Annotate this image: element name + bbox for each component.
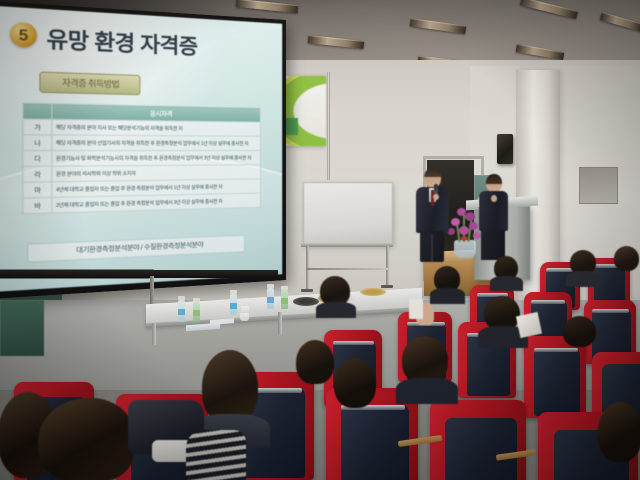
head-table-leg <box>152 323 156 345</box>
audience-member <box>413 299 439 333</box>
audience-hair <box>484 296 520 330</box>
slide-row-key: 바 <box>23 197 52 213</box>
bottle-label <box>267 297 274 303</box>
vase <box>454 240 476 258</box>
banner-pole <box>327 72 330 180</box>
whiteboard-tray <box>301 243 393 247</box>
auditorium-seat[interactable] <box>430 400 526 480</box>
foreground-chair-edge <box>0 300 44 356</box>
head-table-leg <box>278 312 282 334</box>
audience-member <box>398 336 454 402</box>
audience-member <box>492 256 520 290</box>
audience-shoulder <box>566 271 601 287</box>
water-bottle <box>281 290 288 309</box>
bottle-label <box>193 310 200 316</box>
whiteboard-leg <box>386 246 389 286</box>
presenter <box>413 168 453 262</box>
water-bottle <box>230 294 237 315</box>
seat-hinge-bar <box>531 300 565 304</box>
orchid-petal <box>459 226 469 235</box>
audience-shoulder <box>396 378 458 404</box>
audience-member <box>596 402 640 480</box>
slide-pill-button: 자격증 취득방법 <box>39 71 140 95</box>
presenter-head <box>424 168 441 188</box>
audience-hair <box>38 398 134 480</box>
water-bottle <box>193 302 200 322</box>
moderator <box>478 174 510 260</box>
moderator-hand <box>491 195 497 202</box>
wall-speaker-icon <box>497 134 513 164</box>
audience-hair <box>402 336 448 384</box>
snack-plate <box>360 288 386 296</box>
water-bottle <box>178 300 185 322</box>
audience-hair <box>563 316 596 347</box>
bottle-cap <box>281 286 288 290</box>
audience-member <box>330 358 380 422</box>
audience-member <box>318 276 352 316</box>
bottle-cap <box>178 296 185 300</box>
screen-stand-leg <box>150 276 154 306</box>
bottle-label <box>281 298 288 304</box>
audience-member <box>432 266 462 302</box>
slide-row-key: 라 <box>23 166 52 182</box>
orchid-petal <box>469 222 478 230</box>
audience-member <box>568 250 598 286</box>
slide-table-row: 나해당 자격증의 분야 산업기사의 자격을 취득한 후 환경측정분석 업무에서 … <box>23 135 260 151</box>
presenter-leg-split <box>431 234 433 262</box>
bottle-label <box>230 303 237 309</box>
audience-hair <box>598 402 640 462</box>
bottle-cap <box>230 290 237 294</box>
audience-member <box>560 316 600 366</box>
slide-row-key: 나 <box>23 135 52 151</box>
audience-hair <box>614 246 639 271</box>
slide-table-keycol <box>23 103 52 119</box>
photo-scene: 09 업시 2009. 11. 수회 전략토론 환경정책과 5 유망 환경 자격… <box>0 0 640 480</box>
whiteboard-crossbar <box>306 268 388 270</box>
bottle-label <box>178 309 185 315</box>
seat-hinge-bar <box>333 341 374 345</box>
slide-row-key: 가 <box>23 119 52 135</box>
water-bottle <box>267 288 274 309</box>
audience-shoulder <box>316 302 356 318</box>
slide-row-text: 환경기능사 및 화학분석기능사의 자격을 취득한 후 환경측정분석 업무에서 3… <box>52 151 260 167</box>
slide-number-badge: 5 <box>10 22 37 48</box>
slide-row-key: 다 <box>23 151 52 167</box>
audience-hair <box>296 340 334 384</box>
wall-vent-panel <box>579 167 618 204</box>
slide-row-text: 해당 자격증의 분야 산업기사의 자격을 취득한 후 환경측정분석 업무에서 1… <box>52 135 260 151</box>
projected-slide: 5 유망 환경 자격증 자격증 취득방법 응시자격 가해당 자격증의 분야 지사… <box>0 6 282 292</box>
slide-table-row: 가해당 자격증의 분야 지사 또는 해당분석기능의 자격을 취득한 자 <box>23 119 260 136</box>
slide-table: 응시자격 가해당 자격증의 분야 지사 또는 해당분석기능의 자격을 취득한 자… <box>22 103 261 215</box>
audience-shoulder <box>490 276 523 291</box>
seat-back-pad <box>445 418 517 480</box>
bottle-cap <box>267 284 274 288</box>
mobile-whiteboard <box>303 182 393 246</box>
snack-plate <box>293 297 319 306</box>
presenter-hand <box>433 194 439 200</box>
bottle-cap <box>193 298 200 302</box>
seat-hinge-bar <box>592 309 629 313</box>
projection-screen-frame: 5 유망 환경 자격증 자격증 취득방법 응시자격 가해당 자격증의 분야 지사… <box>0 1 286 299</box>
audience-hair <box>334 358 376 408</box>
slide-pill-label: 자격증 취득방법 <box>40 73 139 95</box>
whiteboard-caster <box>381 285 393 288</box>
slide-number: 5 <box>10 22 37 48</box>
audience-hair <box>202 350 258 424</box>
paper-cup <box>240 313 249 321</box>
audience-paper-sheet <box>516 312 542 338</box>
slide-row-key: 마 <box>23 182 52 198</box>
screen-bottom-bar <box>0 269 278 278</box>
whiteboard-caster <box>301 289 313 292</box>
slide-row-text: 해당 자격증의 분야 지사 또는 해당분석기능의 자격을 취득한 자 <box>52 119 260 136</box>
audience-member <box>186 430 252 480</box>
audience-member <box>612 246 640 282</box>
moderator-head <box>486 174 502 192</box>
audience-paper <box>409 299 423 319</box>
flower-accent <box>461 236 467 241</box>
audience-striped-sleeve <box>186 430 246 480</box>
orchid-petal <box>465 212 475 221</box>
